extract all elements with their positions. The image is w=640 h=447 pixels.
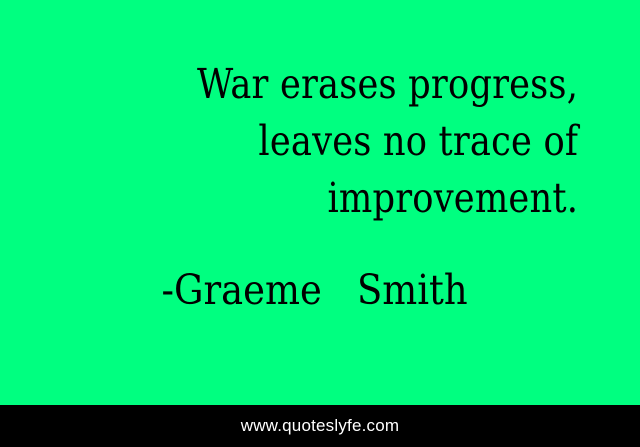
- footer-bar: www.quoteslyfe.com: [0, 405, 640, 447]
- quote-text: War erases progress, leaves no trace of …: [90, 0, 640, 227]
- quote-attribution: -Graeme Smith: [32, 227, 608, 315]
- site-url-label[interactable]: www.quoteslyfe.com: [241, 416, 400, 436]
- quote-card: War erases progress, leaves no trace of …: [0, 0, 640, 447]
- quote-content-area: War erases progress, leaves no trace of …: [0, 0, 640, 405]
